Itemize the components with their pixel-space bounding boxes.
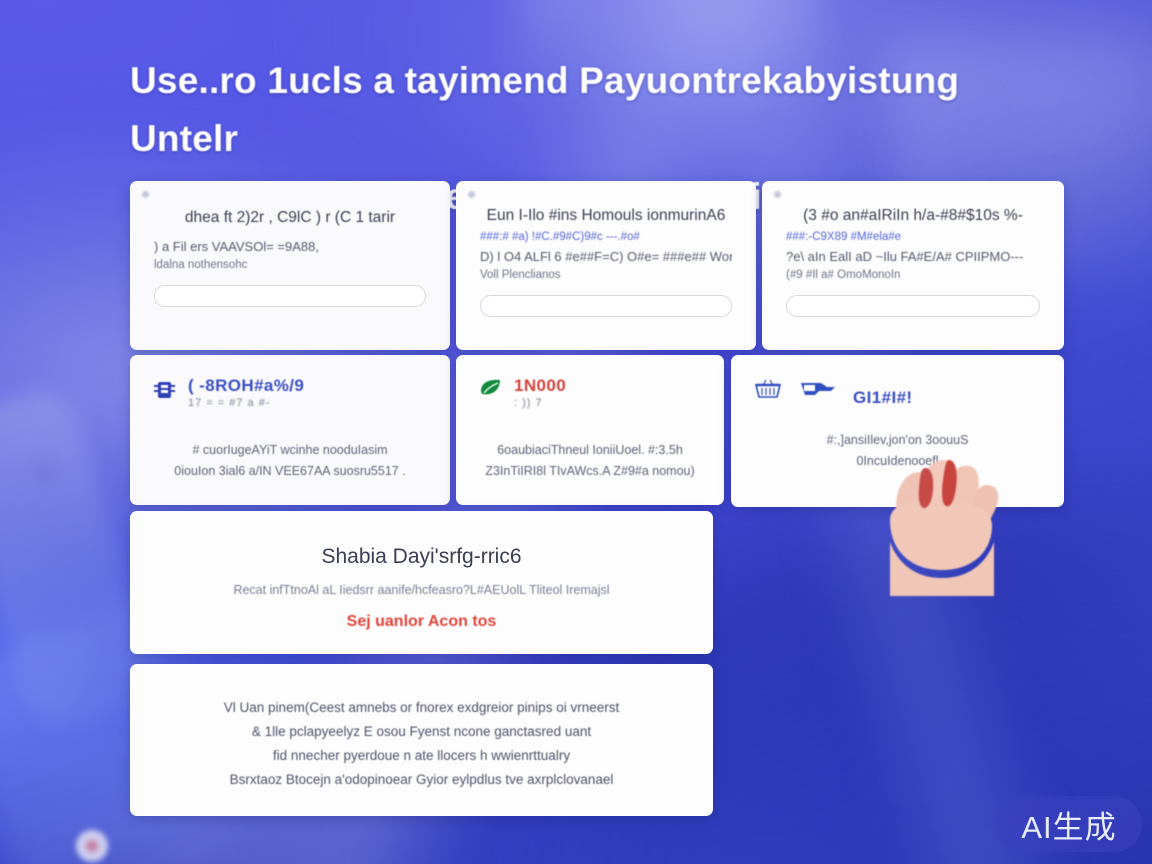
green-leaf-icon xyxy=(478,377,504,401)
brand-name: GI1#I#! xyxy=(853,389,913,407)
card-blue-note: ###:-C9X89 #M#ela#e xyxy=(786,231,1040,243)
ai-generated-watermark: AI生成 xyxy=(996,796,1142,852)
card-line-2: Voll Plenclianos xyxy=(480,269,732,281)
form-card-1[interactable]: dhea ft 2)2r , C9lC ) r (C 1 tarir ) a F… xyxy=(130,181,450,350)
promo-subtitle: Recat infTtnoAl aL Iiedsrr aanife/hcfeas… xyxy=(160,583,683,597)
card-input-field[interactable] xyxy=(480,295,732,317)
promo-title: Shabia Dayi'srfg-rric6 xyxy=(160,545,683,569)
form-card-3[interactable]: (3 #o an#aIRiIn h/a-#8#$10s %- ###:-C9X8… xyxy=(762,181,1064,350)
card-input-field[interactable] xyxy=(154,285,426,307)
card-title: Eun I-Ilo #ins Homouls ionmurinA6 xyxy=(480,207,732,225)
paragraph-line: & 1lle pclapyeelyz E osou Fyenst ncone g… xyxy=(160,724,683,739)
card-line-2: ldalna nothensohc xyxy=(154,259,426,271)
paragraph-card: Vl Uan pinem(Ceest amnebs or fnorex exdg… xyxy=(130,664,713,816)
card-title: (3 #o an#aIRiIn h/a-#8#$10s %- xyxy=(786,207,1040,225)
brand-card-line-2: Z3InTiIRI8l TIvAWcs.A Z#9#a nomou) xyxy=(478,464,702,478)
brand-card-2[interactable]: 1N000 : )) 7 6oaubiaciThneul IoniiUoel. … xyxy=(456,355,724,505)
card-line-1: ?e\ aIn EalI aD ~Ilu FA#E/A# CPIIPMO--- xyxy=(786,249,1040,264)
shopping-basket-icon xyxy=(753,377,783,401)
brand-subtitle: : )) 7 xyxy=(514,397,566,409)
card-dot-icon xyxy=(142,191,149,198)
brand-name: 1N000 xyxy=(514,377,566,395)
card-dot-icon xyxy=(468,191,475,198)
blue-chip-icon xyxy=(152,377,178,403)
watermark-label: AI生成 xyxy=(1021,802,1116,847)
brand-name: ( -8ROH#a%/9 xyxy=(188,377,304,395)
card-line-1: D) l O4 ALFl 6 #e##F=C) O#e= ###e## Wor … xyxy=(480,249,732,264)
brand-subtitle: 17 = = #7 a #- xyxy=(188,397,304,409)
screenshot-root: Use..ro 1ucls a tayimend Payuontrekabyis… xyxy=(0,0,1152,864)
promo-cta-link[interactable]: Sej uanlor Acon tos xyxy=(160,613,683,631)
barcode-scanner-icon xyxy=(799,377,839,401)
paragraph-line: Vl Uan pinem(Ceest amnebs or fnorex exdg… xyxy=(160,700,683,715)
card-title: dhea ft 2)2r , C9lC ) r (C 1 tarir xyxy=(154,209,426,227)
brand-card-line-2: 0iouIon 3ial6 a/IN VEE67AA suosru5517 . xyxy=(152,464,428,478)
promo-card[interactable]: Shabia Dayi'srfg-rric6 Recat infTtnoAl a… xyxy=(130,511,713,654)
brand-card-line-1: 6oaubiaciThneul IoniiUoel. #:3.5h xyxy=(478,443,702,457)
card-line-1: ) a Fil ers VAAVSOl= =9A88, xyxy=(154,239,426,254)
paragraph-line: Bsrxtaoz Btocejn a'odopinoear Gyior eylp… xyxy=(160,772,683,787)
brand-card-line-1: #:,]ansiIlev,jon'on 3oouuS xyxy=(753,433,1042,447)
card-blue-note: ###:# #a) !#C.#9#C)9#c ---.#o# xyxy=(480,231,732,243)
form-card-2[interactable]: Eun I-Ilo #ins Homouls ionmurinA6 ###:# … xyxy=(456,181,756,350)
hand-illustration xyxy=(876,446,1012,596)
card-dot-icon xyxy=(774,191,781,198)
brand-card-1[interactable]: ( -8ROH#a%/9 17 = = #7 a #- # cuorIugeAY… xyxy=(130,355,450,505)
headline-line-1: Use..ro 1ucls a tayimend Payuontrekabyis… xyxy=(130,52,960,168)
card-line-2: (#9 #Il a# OmoMonoIn xyxy=(786,269,1040,281)
brand-card-line-1: # cuorIugeAYiT wcinhe nooduIasim xyxy=(152,443,428,457)
paragraph-line: fid nnecher pyerdoue n ate llocers h wwi… xyxy=(160,748,683,763)
card-input-field[interactable] xyxy=(786,295,1040,317)
